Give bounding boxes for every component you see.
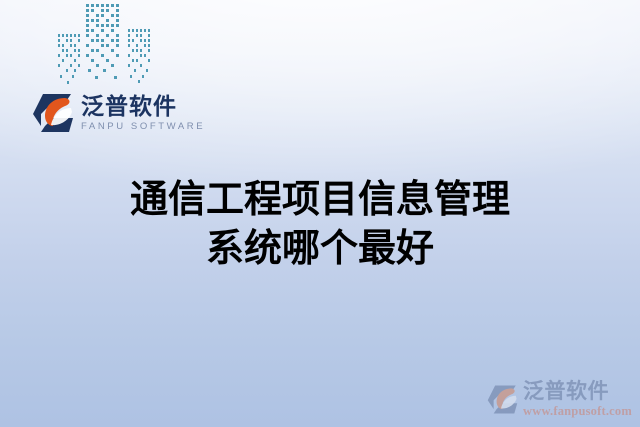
pixel-skyline-graphic bbox=[55, 0, 155, 90]
poster-canvas: 泛普软件 FANPU SOFTWARE 通信工程项目信息管理 系统哪个最好 泛普… bbox=[0, 0, 640, 427]
page-title-line-1: 通信工程项目信息管理 bbox=[0, 176, 640, 225]
fanpu-watermark-mark bbox=[486, 384, 519, 415]
brand-name-en: FANPU SOFTWARE bbox=[81, 121, 205, 133]
watermark-name-cn: 泛普软件 bbox=[523, 381, 632, 403]
brand-wordmark: 泛普软件 FANPU SOFTWARE bbox=[81, 93, 205, 133]
watermark-wordmark: 泛普软件 www.fanpusoft.com bbox=[523, 381, 632, 418]
watermark-url: www.fanpusoft.com bbox=[523, 404, 632, 418]
brand-logo: 泛普软件 FANPU SOFTWARE bbox=[31, 92, 205, 134]
fanpu-logo-mark bbox=[31, 92, 75, 134]
watermark: 泛普软件 www.fanpusoft.com bbox=[486, 381, 632, 418]
page-title-line-2: 系统哪个最好 bbox=[0, 225, 640, 274]
brand-name-cn: 泛普软件 bbox=[81, 94, 205, 119]
page-title: 通信工程项目信息管理 系统哪个最好 bbox=[0, 176, 640, 274]
